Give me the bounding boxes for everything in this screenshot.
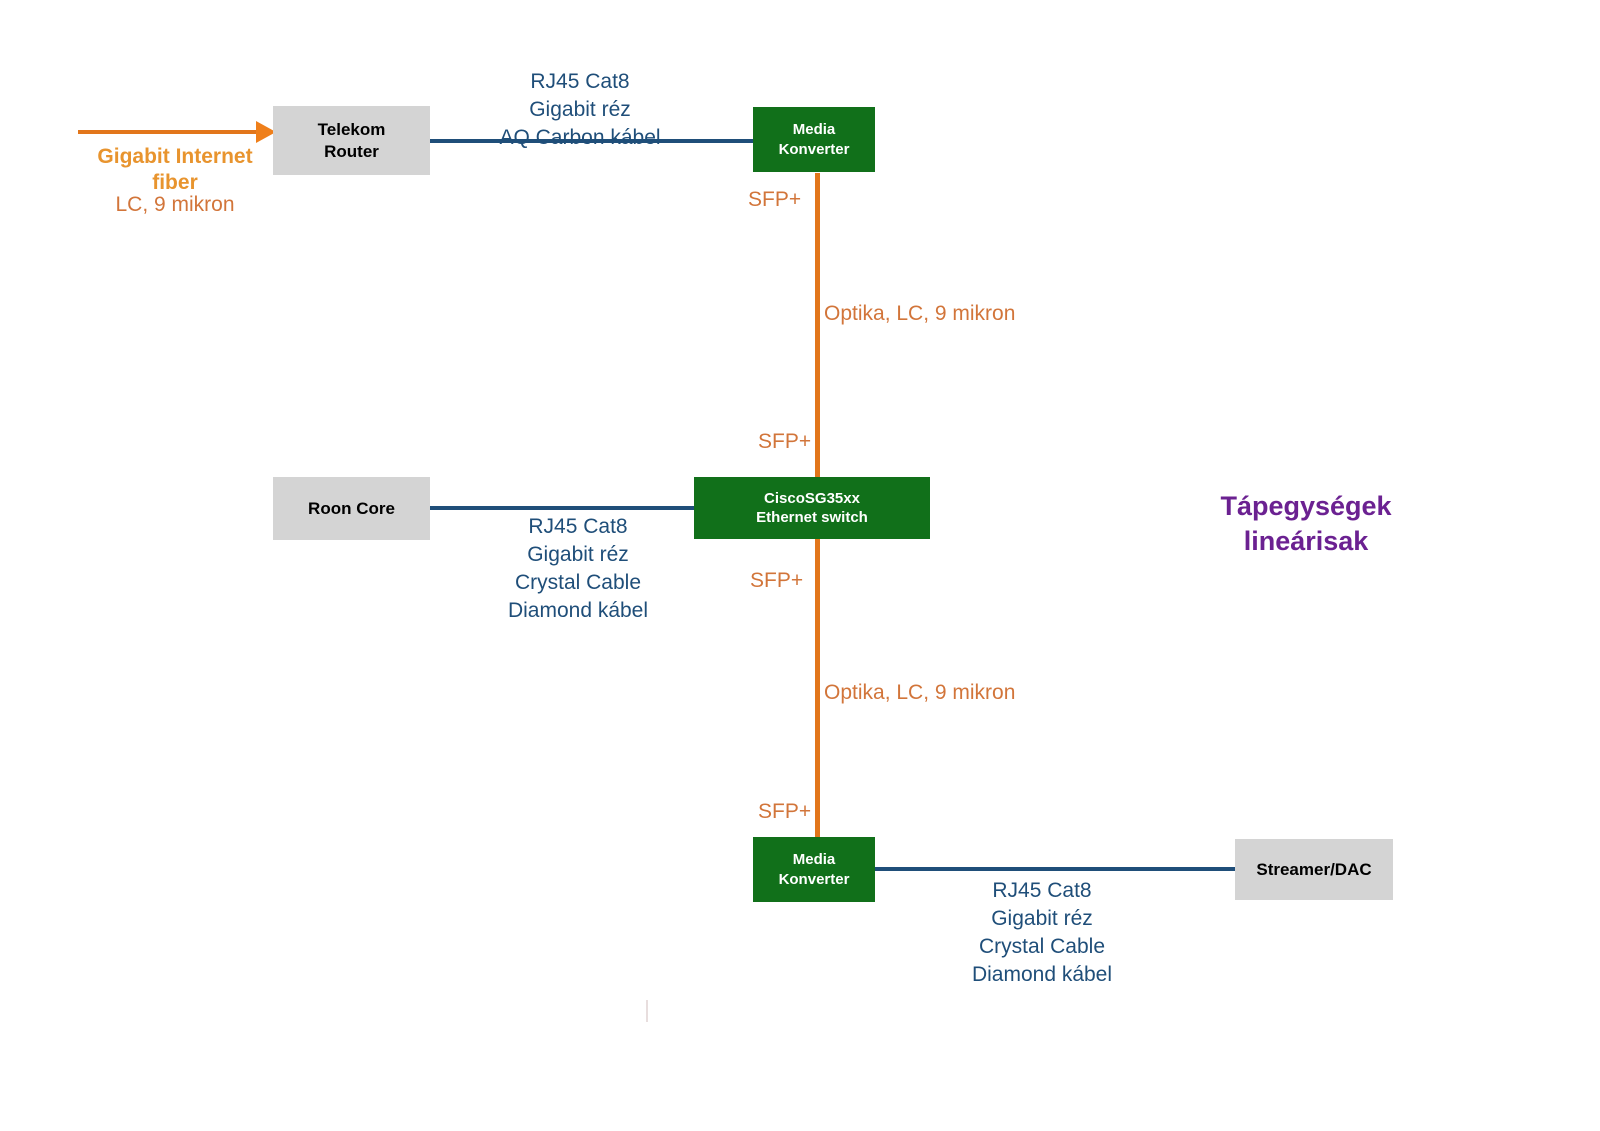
label-converter-bottom-to-streamer: RJ45 Cat8 Gigabit réz Crystal Cable Diam… xyxy=(912,877,1172,989)
node-telekom-router[interactable]: Telekom Router xyxy=(273,106,430,175)
node-roon-core-label: Roon Core xyxy=(308,498,395,520)
label-sfp-switch-in: SFP+ xyxy=(758,430,811,454)
link-roon-to-switch xyxy=(428,506,696,510)
link-switch-to-converter-bottom xyxy=(815,539,820,839)
label-router-to-converter-top: RJ45 Cat8 Gigabit réz AQ Carbon kábel xyxy=(450,68,710,152)
label-optika-lower: Optika, LC, 9 mikron xyxy=(824,679,1015,707)
label-internet-fiber: Gigabit Internet fiber xyxy=(75,144,275,197)
node-media-konverter-bottom[interactable]: Media Konverter xyxy=(753,837,875,902)
label-sfp-converter-bottom-in: SFP+ xyxy=(758,800,811,824)
label-internet-fiber-sub: LC, 9 mikron xyxy=(75,192,275,218)
node-media-konverter-top-label: Media Konverter xyxy=(779,120,850,158)
node-media-konverter-bottom-label: Media Konverter xyxy=(779,850,850,888)
node-telekom-router-label: Telekom Router xyxy=(318,119,386,163)
label-optika-upper: Optika, LC, 9 mikron xyxy=(824,300,1015,328)
node-media-konverter-top[interactable]: Media Konverter xyxy=(753,107,875,172)
label-sfp-switch-out: SFP+ xyxy=(750,569,803,593)
node-cisco-switch-label: CiscoSG35xx Ethernet switch xyxy=(756,489,868,527)
node-streamer-dac[interactable]: Streamer/DAC xyxy=(1235,839,1393,900)
node-streamer-dac-label: Streamer/DAC xyxy=(1256,859,1371,881)
node-roon-core[interactable]: Roon Core xyxy=(273,477,430,540)
note-power-supplies: Tápegységek lineárisak xyxy=(1186,489,1426,559)
scan-artifact xyxy=(646,1000,648,1022)
link-converter-top-to-switch xyxy=(815,173,820,479)
label-roon-to-switch: RJ45 Cat8 Gigabit réz Crystal Cable Diam… xyxy=(448,513,708,625)
node-cisco-switch[interactable]: CiscoSG35xx Ethernet switch xyxy=(694,477,930,539)
network-diagram-canvas: Telekom Router Media Konverter Roon Core… xyxy=(0,0,1600,1131)
link-converter-bottom-to-streamer xyxy=(874,867,1236,871)
fiber-arrow-shaft xyxy=(78,130,258,134)
label-sfp-converter-top-out: SFP+ xyxy=(748,188,801,212)
